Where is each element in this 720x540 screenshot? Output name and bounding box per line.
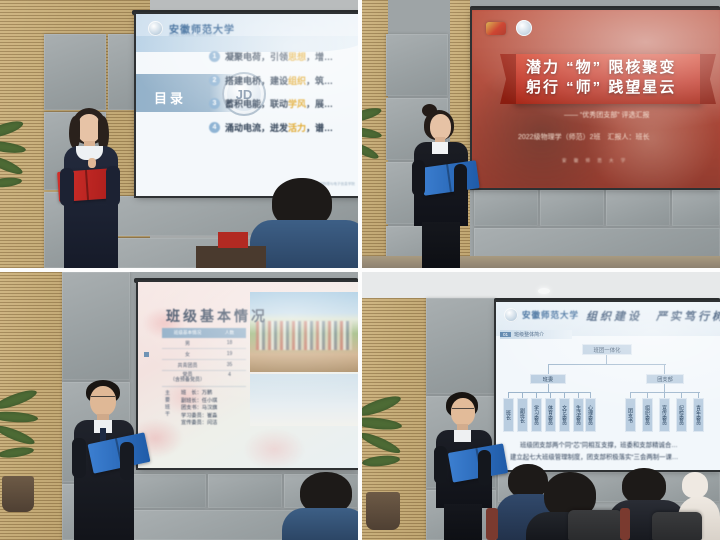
org-leaf-node: 团支书 xyxy=(625,398,636,432)
org-link-vertical xyxy=(664,364,665,374)
audience-body xyxy=(282,508,358,540)
wall-panel xyxy=(540,190,604,226)
toc-label: 目录 xyxy=(154,88,186,107)
lecture-room-scene-q2: 潜力 “物” 限核聚变 躬行 “师” 践望星云 —— “优秀团支部” 评选汇报 … xyxy=(362,0,720,268)
org-leaf-node: 宣传委员 xyxy=(659,398,670,432)
arm-left xyxy=(72,438,86,478)
table-cell: 共青团员 xyxy=(162,362,213,369)
arm-right xyxy=(120,442,134,480)
table-cell: 女 xyxy=(162,351,213,358)
red-book-on-desk xyxy=(218,232,248,248)
arm-left xyxy=(434,446,447,484)
toc-item: 1 凝聚电荷，引领思想，增… xyxy=(209,50,358,63)
officer-item: 团支书：马汉旗 xyxy=(181,405,217,413)
section-title: 班级整体简介 xyxy=(514,331,544,338)
plant-frond xyxy=(0,446,34,460)
slide-footer: 安 徽 师 范 大 学 xyxy=(562,158,628,164)
glasses-icon xyxy=(91,396,115,401)
arm-left xyxy=(60,168,74,206)
arm-left xyxy=(412,160,425,196)
plant-frond xyxy=(362,454,400,468)
lecture-room-scene-q4: 安徽师范大学 组织建设 严实笃行树班风 01 班级整体简介 班团一体化 班委 团… xyxy=(362,272,720,540)
slide-photo-group xyxy=(250,292,358,372)
plant-pot xyxy=(366,492,400,530)
audience-member-q1 xyxy=(250,178,358,268)
chair-back xyxy=(568,510,622,540)
projection-screen: 安徽师范大学 组织建设 严实笃行树班风 01 班级整体简介 班团一体化 班委 团… xyxy=(496,302,720,470)
photo-collage: 安徽师范大学 ANHUI NORMAL UNIVERSITY 目录 JD 1 凝… xyxy=(0,0,720,540)
slide-photo-secondary xyxy=(250,374,358,426)
org-leaf-node: 生活委员 xyxy=(573,398,584,432)
plant-frond xyxy=(0,410,38,423)
plant-frond xyxy=(362,139,380,161)
projection-screen: 班级基本情况 班级基本情况 人数 男 18 女 19 xyxy=(138,282,358,468)
projection-screen: 潜力 “物” 限核聚变 躬行 “师” 践望星云 —— “优秀团支部” 评选汇报 … xyxy=(472,10,720,188)
toc-item: 3 蓄积电能，联动学风，展… xyxy=(209,97,358,110)
potted-plant xyxy=(0,394,48,514)
plant-frond xyxy=(0,139,26,155)
ceiling xyxy=(362,272,720,298)
arm-right xyxy=(106,166,120,206)
presenter-q3 xyxy=(66,380,144,540)
slide-contents: 安徽师范大学 ANHUI NORMAL UNIVERSITY 目录 JD 1 凝… xyxy=(136,14,358,196)
slide-body-line2: 建立起七大班级管理制度，团支部积极落实“三会两制一课… xyxy=(510,452,678,461)
wall-panel xyxy=(474,228,720,258)
university-logo-icon xyxy=(516,20,532,36)
org-leaf-node: 文艺委员 xyxy=(559,398,570,432)
audience-member-q3 xyxy=(282,472,358,540)
org-leaf-node: 体育委员 xyxy=(545,398,556,432)
officers-label: 主要班干 xyxy=(164,390,171,428)
potted-plant xyxy=(0,120,36,230)
slide-header-title: 组织建设 严实笃行树班风 xyxy=(586,308,720,324)
officer-item: 学习委员：崔淼 xyxy=(181,413,217,421)
table-cell: 19 xyxy=(213,351,246,358)
head xyxy=(90,386,116,416)
table-cell: 18 xyxy=(213,340,246,347)
hair-side-right xyxy=(98,116,109,150)
wall-panel xyxy=(44,34,106,110)
slide-subtitle: —— “优秀团支部” 评选汇报 xyxy=(564,110,650,120)
class-officers-block: 主要班干 班 长：万鹏 副班长：任小琪 团支书：马汉旗 学习委员：崔淼 宣传委员… xyxy=(164,390,217,428)
org-leaf-node: 副班长 xyxy=(517,398,528,432)
org-link-vertical xyxy=(606,355,607,364)
table-row: 党员 （含预备党员） 4 xyxy=(162,371,246,387)
org-link-horizontal xyxy=(548,364,666,365)
wall-panel xyxy=(606,190,670,226)
collage-photo-top-left: 安徽师范大学 ANHUI NORMAL UNIVERSITY 目录 JD 1 凝… xyxy=(0,0,358,268)
toc-item-text: 涌动电流，迸发活力，谱… xyxy=(225,121,333,134)
toc-item-number: 1 xyxy=(209,51,220,62)
hair-side-left xyxy=(69,116,80,148)
org-link-vertical xyxy=(548,364,549,374)
audience-body xyxy=(250,220,358,268)
wall-panel xyxy=(426,298,496,394)
collage-photo-bottom-left: 班级基本情况 班级基本情况 人数 男 18 女 19 xyxy=(0,272,358,540)
wall-panel xyxy=(62,272,130,380)
toc-item-number: 4 xyxy=(209,122,220,133)
plant-frond xyxy=(0,422,36,447)
trousers xyxy=(422,222,460,268)
table-header-cell: 班级基本情况 xyxy=(162,330,213,336)
org-leaf-node: 班长 xyxy=(503,398,514,432)
audience-head xyxy=(622,468,666,504)
arm-right xyxy=(478,450,491,486)
section-number: 01 xyxy=(500,332,511,337)
plant-frond xyxy=(362,105,383,125)
class-stats-table: 班级基本情况 人数 男 18 女 19 共青团员 xyxy=(162,328,246,387)
officer-item: 班 长：万鹏 xyxy=(181,390,217,398)
org-leaf-node: 学习委员 xyxy=(531,398,542,432)
plant-frond xyxy=(362,415,402,431)
projection-screen: 安徽师范大学 ANHUI NORMAL UNIVERSITY 目录 JD 1 凝… xyxy=(136,14,358,196)
collage-photo-bottom-right: 安徽师范大学 组织建设 严实笃行树班风 01 班级整体简介 班团一体化 班委 团… xyxy=(362,272,720,540)
table-cell: 35 xyxy=(213,362,246,369)
university-name-en: ANHUI NORMAL UNIVERSITY xyxy=(169,33,216,37)
table-row: 共青团员 35 xyxy=(162,360,246,371)
hand xyxy=(88,158,96,168)
chair-frame xyxy=(486,508,498,540)
collage-photo-top-right: 潜力 “物” 限核聚变 躬行 “师” 践望星云 —— “优秀团支部” 评选汇报 … xyxy=(362,0,720,268)
audience-head xyxy=(682,472,708,498)
toc-list: 1 凝聚电荷，引领思想，增… 2 搭建电桥，建设组织，筑… 3 蓄积电能，联动学… xyxy=(209,50,358,144)
table-cell: 党员 （含预备党员） xyxy=(162,373,213,385)
slide-badge xyxy=(144,352,149,357)
table-cell: 男 xyxy=(162,340,213,347)
org-node-root: 班团一体化 xyxy=(582,344,632,355)
desk-edge xyxy=(196,246,266,268)
org-node-branch: 班委 xyxy=(530,374,566,384)
table-header-cell: 人数 xyxy=(213,330,246,336)
plant-frond xyxy=(0,153,24,178)
plant-pot xyxy=(2,476,34,512)
university-logo-icon xyxy=(148,21,163,36)
toc-item-text: 蓄积电能，联动学风，展… xyxy=(225,97,333,110)
table-row: 女 19 xyxy=(162,349,246,360)
presenter-q1 xyxy=(52,108,130,268)
toc-item-number: 2 xyxy=(209,75,220,86)
org-leaf-node: 组织委员 xyxy=(642,398,653,432)
plant-frond xyxy=(362,429,402,456)
toc-item-text: 搭建电桥，建设组织，筑… xyxy=(225,74,333,87)
arm-right xyxy=(454,164,467,198)
section-tag: 01 班级整体简介 xyxy=(500,330,572,339)
toc-item: 2 搭建电桥，建设组织，筑… xyxy=(209,74,358,87)
plant-frond xyxy=(0,118,25,141)
potted-plant xyxy=(362,108,390,198)
slide-body-line1: 班级团支部两个同“芯”同相互支撑，班委和支部精诚合… xyxy=(520,440,678,449)
presenter-q2 xyxy=(404,104,476,268)
slide-title-line2: 躬行 “师” 践望星云 xyxy=(526,76,676,97)
slide-org-structure: 安徽师范大学 组织建设 严实笃行树班风 01 班级整体简介 班团一体化 班委 团… xyxy=(496,302,720,470)
slide-class-info: 班级基本情况 班级基本情况 人数 男 18 女 19 xyxy=(138,282,358,468)
org-leaf-node: 心理委员 xyxy=(585,398,596,432)
toc-item-number: 3 xyxy=(209,98,220,109)
officer-item: 副班长：任小琪 xyxy=(181,398,217,406)
university-logo-icon xyxy=(504,308,518,322)
org-leaf-node: 纪检委员 xyxy=(676,398,687,432)
slide-title: 班级基本情况 xyxy=(166,306,268,326)
slide-title-line1: 潜力 “物” 限核聚变 xyxy=(526,56,676,77)
plant-frond xyxy=(362,125,382,140)
toc-item-text: 凝聚电荷，引领思想，增… xyxy=(225,50,333,63)
chair-back xyxy=(652,512,702,540)
slide-reporter-info: 2022级物理学（师范）2班 汇报人：班长 xyxy=(518,132,649,142)
org-link-vertical xyxy=(548,384,549,392)
lecture-room-scene-q3: 班级基本情况 班级基本情况 人数 男 18 女 19 xyxy=(0,272,358,540)
toc-item: 4 涌动电流，迸发活力，谱… xyxy=(209,121,358,134)
wall-panel xyxy=(208,474,282,508)
table-row: 男 18 xyxy=(162,338,246,349)
lecture-room-scene-q1: 安徽师范大学 ANHUI NORMAL UNIVERSITY 目录 JD 1 凝… xyxy=(0,0,358,268)
university-name: 安徽师范大学 xyxy=(522,309,579,321)
ceiling-light-icon xyxy=(538,288,550,294)
glasses-icon xyxy=(452,408,474,413)
slide-title-red: 潜力 “物” 限核聚变 躬行 “师” 践望星云 —— “优秀团支部” 评选汇报 … xyxy=(472,10,720,188)
wall-panel xyxy=(672,190,720,226)
org-link-vertical xyxy=(664,384,665,392)
org-leaf-node: 青年委员 xyxy=(693,398,704,432)
table-cell: 4 xyxy=(213,373,246,385)
officers-list: 班 长：万鹏 副班长：任小琪 团支书：马汉旗 学习委员：崔淼 宣传委员：闫洁 xyxy=(181,390,217,428)
chair-frame xyxy=(620,508,630,540)
table-header-row: 班级基本情况 人数 xyxy=(162,328,246,338)
wall-panel xyxy=(386,34,448,96)
officer-item: 宣传委员：闫洁 xyxy=(181,420,217,428)
trousers xyxy=(444,504,482,540)
org-node-branch: 团支部 xyxy=(646,374,684,384)
wall-panel xyxy=(474,190,538,226)
plant-frond xyxy=(0,176,22,189)
shirt-collar xyxy=(432,142,448,154)
potted-plant xyxy=(362,400,412,532)
shirt-collar xyxy=(454,430,471,442)
party-emblem-icon xyxy=(486,22,506,35)
